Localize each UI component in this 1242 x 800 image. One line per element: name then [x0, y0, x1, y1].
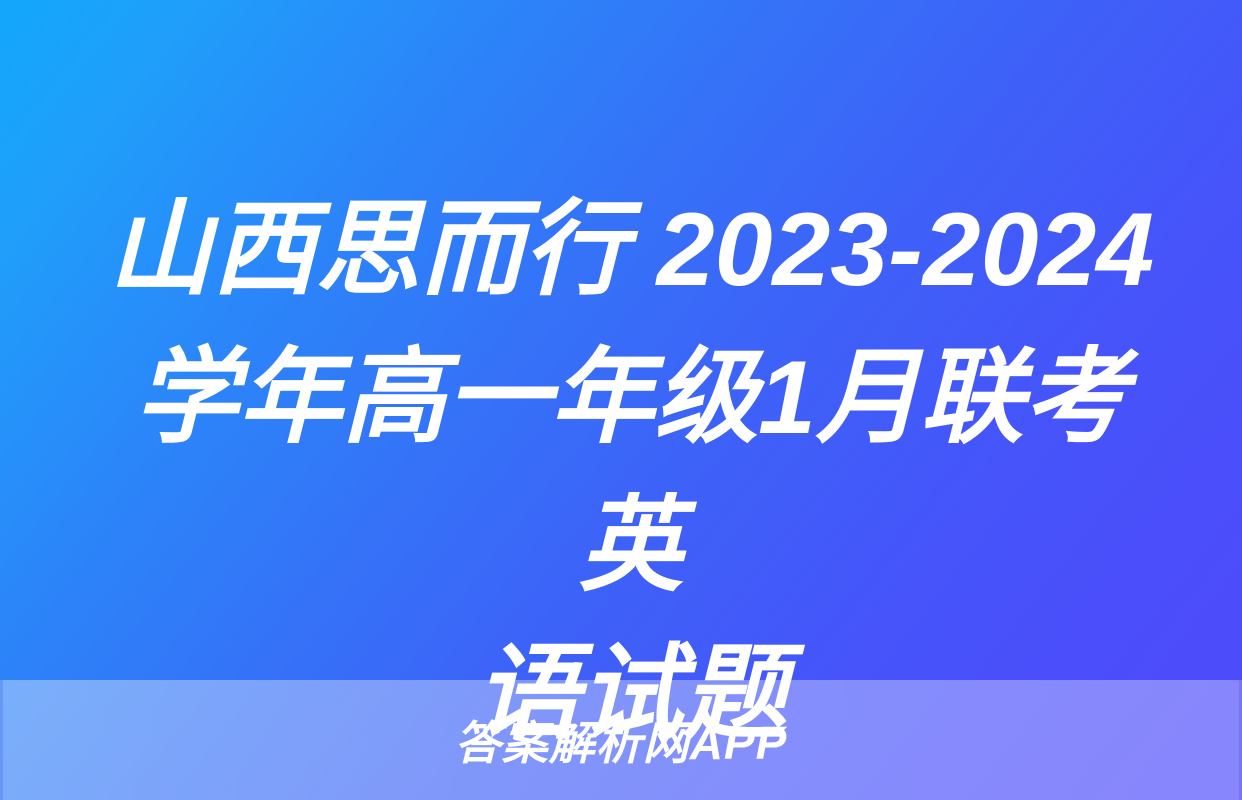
title-card: 山西思而行 2023-2024 学年高一年级1月联考英 语试题 答案解析网APP	[0, 0, 1242, 800]
page-title-line-2: 学年高一年级1月联考英	[104, 324, 1158, 620]
watermark-label: 答案解析网APP	[0, 680, 1242, 800]
page-title-line-1: 山西思而行 2023-2024	[104, 176, 1158, 324]
